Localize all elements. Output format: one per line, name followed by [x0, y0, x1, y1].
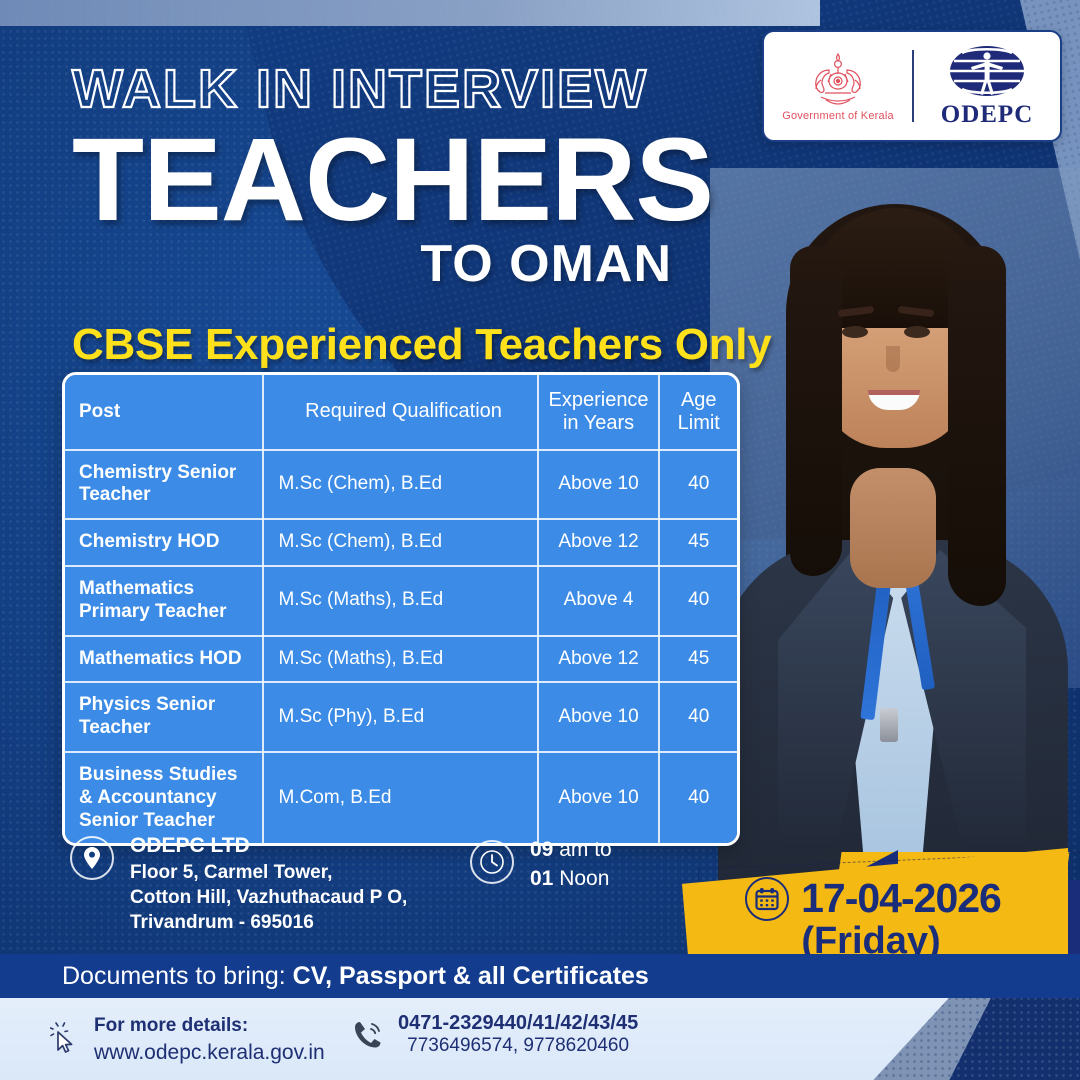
- cell-post: Chemistry Senior Teacher: [65, 450, 263, 520]
- cell-qualification: M.Sc (Chem), B.Ed: [263, 450, 537, 520]
- cell-post: Mathematics Primary Teacher: [65, 566, 263, 636]
- footer-website[interactable]: www.odepc.kerala.gov.in: [94, 1039, 325, 1066]
- recruitment-poster: WALK IN INTERVIEW TEACHERS TO OMAN CBSE …: [0, 0, 1080, 1080]
- documents-items: CV, Passport & all Certificates: [293, 962, 649, 990]
- clock-icon: [470, 840, 514, 884]
- venue-address: ODEPC LTD Floor 5, Carmel Tower, Cotton …: [130, 832, 407, 936]
- cell-age: 45: [659, 636, 737, 683]
- odepc-logo: ODEPC: [914, 44, 1060, 129]
- footer-phone-primary[interactable]: 0471-2329440/41/42/43/45: [398, 1012, 638, 1035]
- cell-qualification: M.Sc (Chem), B.Ed: [263, 519, 537, 566]
- cell-experience: Above 4: [538, 566, 660, 636]
- cell-age: 45: [659, 519, 737, 566]
- table-header-row: Post Required Qualification Experience i…: [65, 375, 737, 450]
- cell-post: Business Studies & Accountancy Senior Te…: [65, 752, 263, 843]
- cell-qualification: M.Sc (Phy), B.Ed: [263, 682, 537, 752]
- venue-line-4: Trivandrum - 695016: [130, 910, 407, 935]
- column-header-qualification: Required Qualification: [263, 375, 537, 450]
- location-pin-icon: [70, 836, 114, 880]
- calendar-icon: [745, 877, 789, 921]
- column-header-experience: Experience in Years: [538, 375, 660, 450]
- cell-experience: Above 10: [538, 752, 660, 843]
- table-body: Chemistry Senior TeacherM.Sc (Chem), B.E…: [65, 450, 737, 844]
- cell-qualification: M.Sc (Maths), B.Ed: [263, 566, 537, 636]
- venue-line-2: Floor 5, Carmel Tower,: [130, 860, 407, 885]
- odepc-globe-icon: [948, 44, 1026, 100]
- footer: For more details: www.odepc.kerala.gov.i…: [0, 998, 1080, 1080]
- table-row: Chemistry Senior TeacherM.Sc (Chem), B.E…: [65, 450, 737, 520]
- documents-bar: Documents to bring: CV, Passport & all C…: [0, 954, 1080, 998]
- cell-post: Mathematics HOD: [65, 636, 263, 683]
- interview-date: 17-04-2026: [801, 875, 1001, 922]
- footer-phone-secondary[interactable]: 7736496574, 9778620460: [398, 1035, 638, 1057]
- cell-age: 40: [659, 566, 737, 636]
- footer-phone-block[interactable]: 0471-2329440/41/42/43/45 7736496574, 977…: [352, 1012, 638, 1057]
- footer-website-block[interactable]: For more details: www.odepc.kerala.gov.i…: [50, 1014, 325, 1066]
- table-row: Mathematics Primary TeacherM.Sc (Maths),…: [65, 566, 737, 636]
- kerala-government-logo: Government of Kerala: [764, 50, 912, 122]
- header-block: WALK IN INTERVIEW TEACHERS TO OMAN CBSE …: [72, 62, 792, 370]
- cell-experience: Above 12: [538, 636, 660, 683]
- table-row: Chemistry HODM.Sc (Chem), B.EdAbove 1245: [65, 519, 737, 566]
- kerala-government-label: Government of Kerala: [782, 110, 894, 122]
- cell-age: 40: [659, 450, 737, 520]
- cell-experience: Above 12: [538, 519, 660, 566]
- cell-qualification: M.Com, B.Ed: [263, 752, 537, 843]
- documents-prefix: Documents to bring:: [62, 962, 293, 990]
- cell-post: Chemistry HOD: [65, 519, 263, 566]
- odepc-label: ODEPC: [941, 101, 1034, 129]
- venue-block: ODEPC LTD Floor 5, Carmel Tower, Cotton …: [70, 832, 407, 936]
- eyebrow-walk-in-interview: WALK IN INTERVIEW: [72, 62, 792, 116]
- documents-text: Documents to bring: CV, Passport & all C…: [62, 962, 649, 991]
- time-end-number: 01: [530, 867, 553, 890]
- time-start-text: am to: [553, 838, 611, 861]
- logo-box: Government of Kerala: [762, 30, 1062, 142]
- cell-experience: Above 10: [538, 682, 660, 752]
- cell-age: 40: [659, 682, 737, 752]
- time-block: 09 am to 01 Noon: [470, 836, 612, 893]
- cell-experience: Above 10: [538, 450, 660, 520]
- cell-post: Physics Senior Teacher: [65, 682, 263, 752]
- column-header-age: Age Limit: [659, 375, 737, 450]
- click-cursor-icon: [50, 1022, 82, 1058]
- page-title: TEACHERS: [72, 120, 792, 240]
- time-end-text: Noon: [553, 867, 609, 890]
- footer-details-label: For more details:: [94, 1014, 325, 1039]
- phone-ring-icon: [352, 1018, 386, 1052]
- cell-qualification: M.Sc (Maths), B.Ed: [263, 636, 537, 683]
- table-row: Business Studies & Accountancy Senior Te…: [65, 752, 737, 843]
- background-top-strip: [0, 0, 820, 26]
- kerala-state-emblem-icon: [805, 50, 871, 108]
- venue-line-3: Cotton Hill, Vazhuthacaud P O,: [130, 885, 407, 910]
- time-start-number: 09: [530, 838, 553, 861]
- interview-time: 09 am to 01 Noon: [530, 836, 612, 893]
- table-row: Mathematics HODM.Sc (Maths), B.EdAbove 1…: [65, 636, 737, 683]
- table-row: Physics Senior TeacherM.Sc (Phy), B.EdAb…: [65, 682, 737, 752]
- vacancy-table: Post Required Qualification Experience i…: [62, 372, 740, 846]
- column-header-post: Post: [65, 375, 263, 450]
- eligibility-highlight: CBSE Experienced Teachers Only: [72, 320, 792, 370]
- venue-name: ODEPC LTD: [130, 832, 407, 860]
